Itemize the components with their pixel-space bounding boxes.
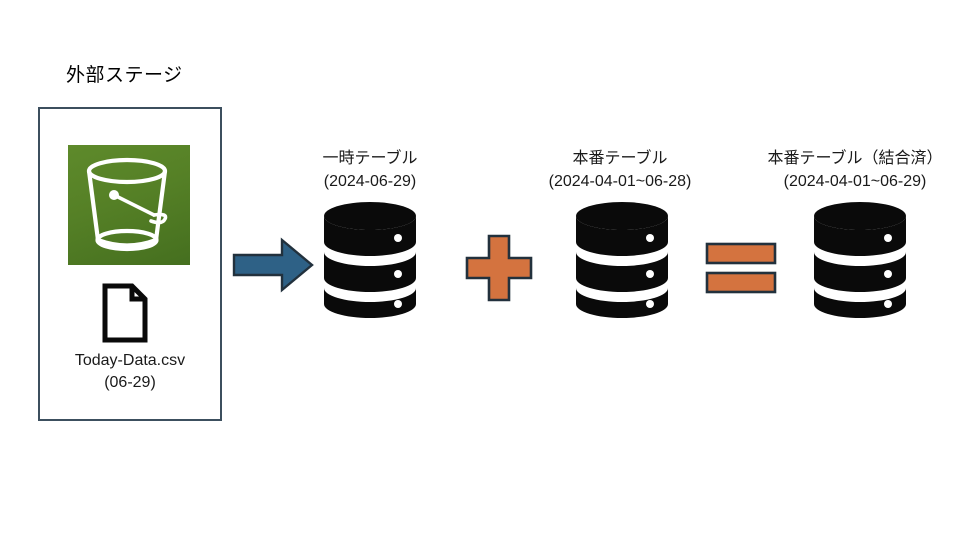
temp-table-range: (2024-06-29)	[255, 170, 485, 193]
caption-production-table: 本番テーブル (2024-04-01~06-28)	[490, 147, 750, 193]
right-arrow-icon	[232, 237, 314, 293]
temp-table-name: 一時テーブル	[255, 147, 485, 170]
database-icon-production-table-merged	[808, 198, 912, 322]
external-stage-title: 外部ステージ	[66, 60, 183, 87]
database-icon-production-table	[570, 198, 674, 322]
csv-file-date: (06-29)	[38, 372, 222, 394]
plus-operator-icon	[464, 233, 534, 303]
csv-file-icon	[101, 283, 149, 343]
diagram-canvas: 外部ステージ Today-Data.csv (06-29)	[0, 0, 960, 540]
production-table-range: (2024-04-01~06-28)	[490, 170, 750, 193]
caption-temp-table: 一時テーブル (2024-06-29)	[255, 147, 485, 193]
production-table-name: 本番テーブル	[490, 147, 750, 170]
production-table-merged-name: 本番テーブル（結合済）	[740, 147, 960, 170]
csv-file-label: Today-Data.csv (06-29)	[38, 350, 222, 394]
production-table-merged-range: (2024-04-01~06-29)	[740, 170, 960, 193]
equals-operator-icon	[705, 242, 777, 294]
csv-file-name: Today-Data.csv	[38, 350, 222, 372]
database-icon-temp-table	[318, 198, 422, 322]
caption-production-table-merged: 本番テーブル（結合済） (2024-04-01~06-29)	[740, 147, 960, 193]
s3-bucket-icon	[68, 145, 190, 265]
